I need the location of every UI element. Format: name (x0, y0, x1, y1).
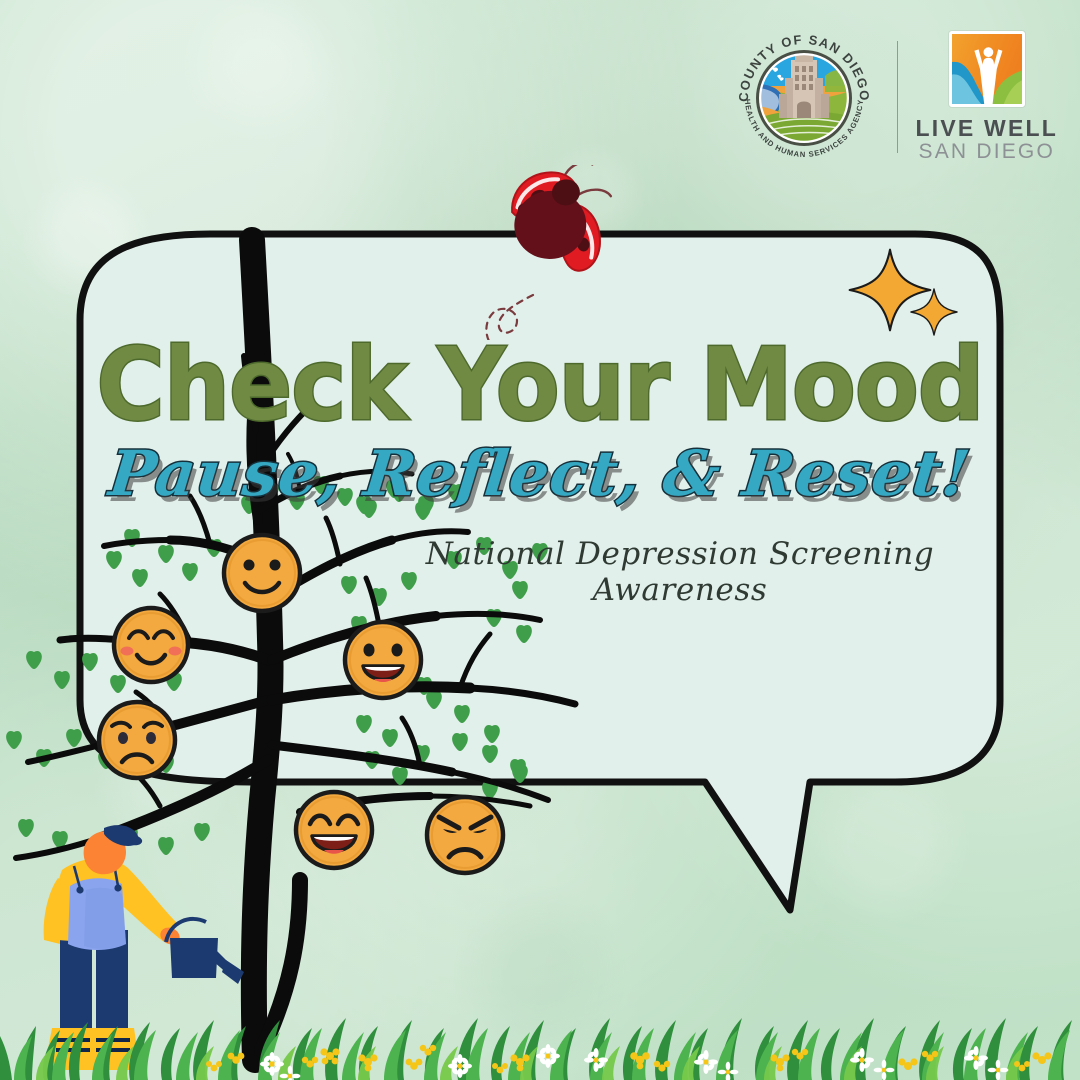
grass-flower-border (0, 970, 1080, 1080)
subtitle-script: Pause, Reflect, & Reset! (0, 437, 1080, 510)
logo-group: COUNTY OF SAN DIEGO HEALTH AND HUMAN SER… (729, 22, 1058, 172)
tagline: National Depression Screening Awareness (360, 536, 1000, 608)
live-well-line2: SAN DIEGO (919, 140, 1056, 163)
live-well-mark-icon (949, 31, 1025, 107)
page-title: Check Your Mood (38, 326, 1042, 443)
county-of-san-diego-seal: COUNTY OF SAN DIEGO HEALTH AND HUMAN SER… (729, 22, 879, 172)
ladybug-icon (455, 165, 640, 340)
live-well-san-diego-logo: LIVE WELL SAN DIEGO (916, 31, 1058, 163)
poster-canvas: COUNTY OF SAN DIEGO HEALTH AND HUMAN SER… (0, 0, 1080, 1080)
logo-divider (897, 41, 898, 153)
live-well-line1: LIVE WELL (916, 116, 1058, 140)
